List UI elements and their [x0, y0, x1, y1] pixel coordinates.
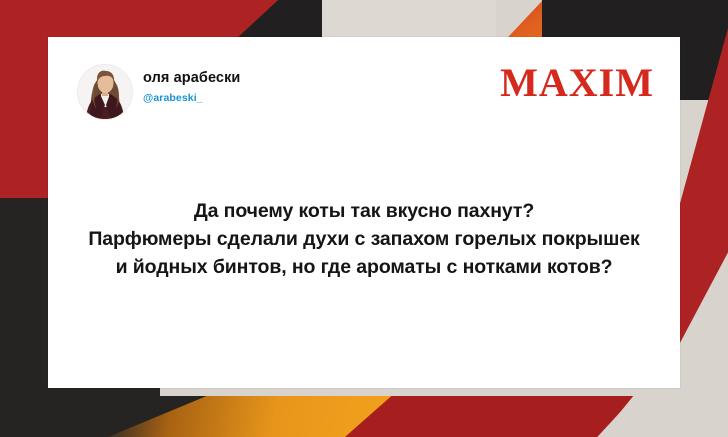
tweet-line-3: и йодных бинтов, но где ароматы с ноткам… — [62, 253, 666, 281]
avatar-portrait-icon — [78, 65, 132, 119]
author-display-name: оля арабески — [143, 71, 240, 87]
tweet-header: оля арабески @arabeski_ MAXIM — [48, 37, 680, 129]
tweet-line-1: Да почему коты так вкусно пахнут? — [62, 197, 666, 225]
author-handle[interactable]: @arabeski_ — [143, 92, 240, 104]
tweet-line-2: Парфюмеры сделали духи с запахом горелых… — [62, 225, 666, 253]
bg-shape-red-bottom — [345, 396, 635, 437]
tweet-text: Да почему коты так вкусно пахнут? Парфюм… — [48, 197, 680, 281]
screenshot-canvas: оля арабески @arabeski_ MAXIM Да почему … — [0, 0, 728, 437]
maxim-logo: MAXIM — [500, 63, 654, 103]
tweet-card: оля арабески @arabeski_ MAXIM Да почему … — [48, 37, 680, 388]
author-block: оля арабески @arabeski_ — [143, 71, 240, 104]
avatar[interactable] — [77, 64, 133, 120]
